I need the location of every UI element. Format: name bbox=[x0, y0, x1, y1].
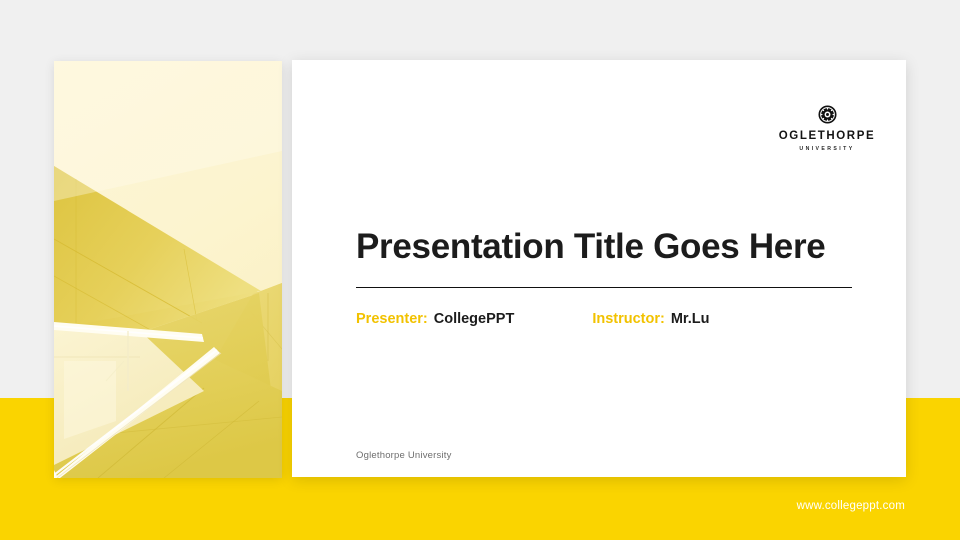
page-title: Presentation Title Goes Here bbox=[356, 228, 854, 267]
university-seal-icon bbox=[818, 105, 837, 124]
title-divider bbox=[356, 287, 852, 288]
presenter-value: CollegePPT bbox=[434, 311, 515, 327]
title-block: Presentation Title Goes Here bbox=[356, 228, 854, 288]
instructor-label: Instructor: bbox=[592, 311, 665, 327]
cover-photo bbox=[54, 61, 282, 478]
credits-row: Presenter: CollegePPT Instructor: Mr.Lu bbox=[356, 311, 709, 327]
university-logo: OGLETHORPE UNIVERSITY bbox=[767, 105, 887, 152]
presenter-credit: Presenter: CollegePPT bbox=[356, 311, 514, 327]
card-footer: Oglethorpe University bbox=[356, 450, 452, 461]
cover-photo-artwork bbox=[54, 61, 282, 478]
university-logo-name: OGLETHORPE bbox=[767, 131, 887, 143]
website-url: www.collegeppt.com bbox=[797, 500, 905, 512]
presenter-label: Presenter: bbox=[356, 311, 428, 327]
slide-canvas: www.collegeppt.com bbox=[0, 0, 960, 540]
university-logo-subtitle: UNIVERSITY bbox=[767, 147, 887, 152]
instructor-credit: Instructor: Mr.Lu bbox=[592, 311, 709, 327]
instructor-value: Mr.Lu bbox=[671, 311, 710, 327]
slide-card: OGLETHORPE UNIVERSITY Presentation Title… bbox=[292, 60, 906, 477]
